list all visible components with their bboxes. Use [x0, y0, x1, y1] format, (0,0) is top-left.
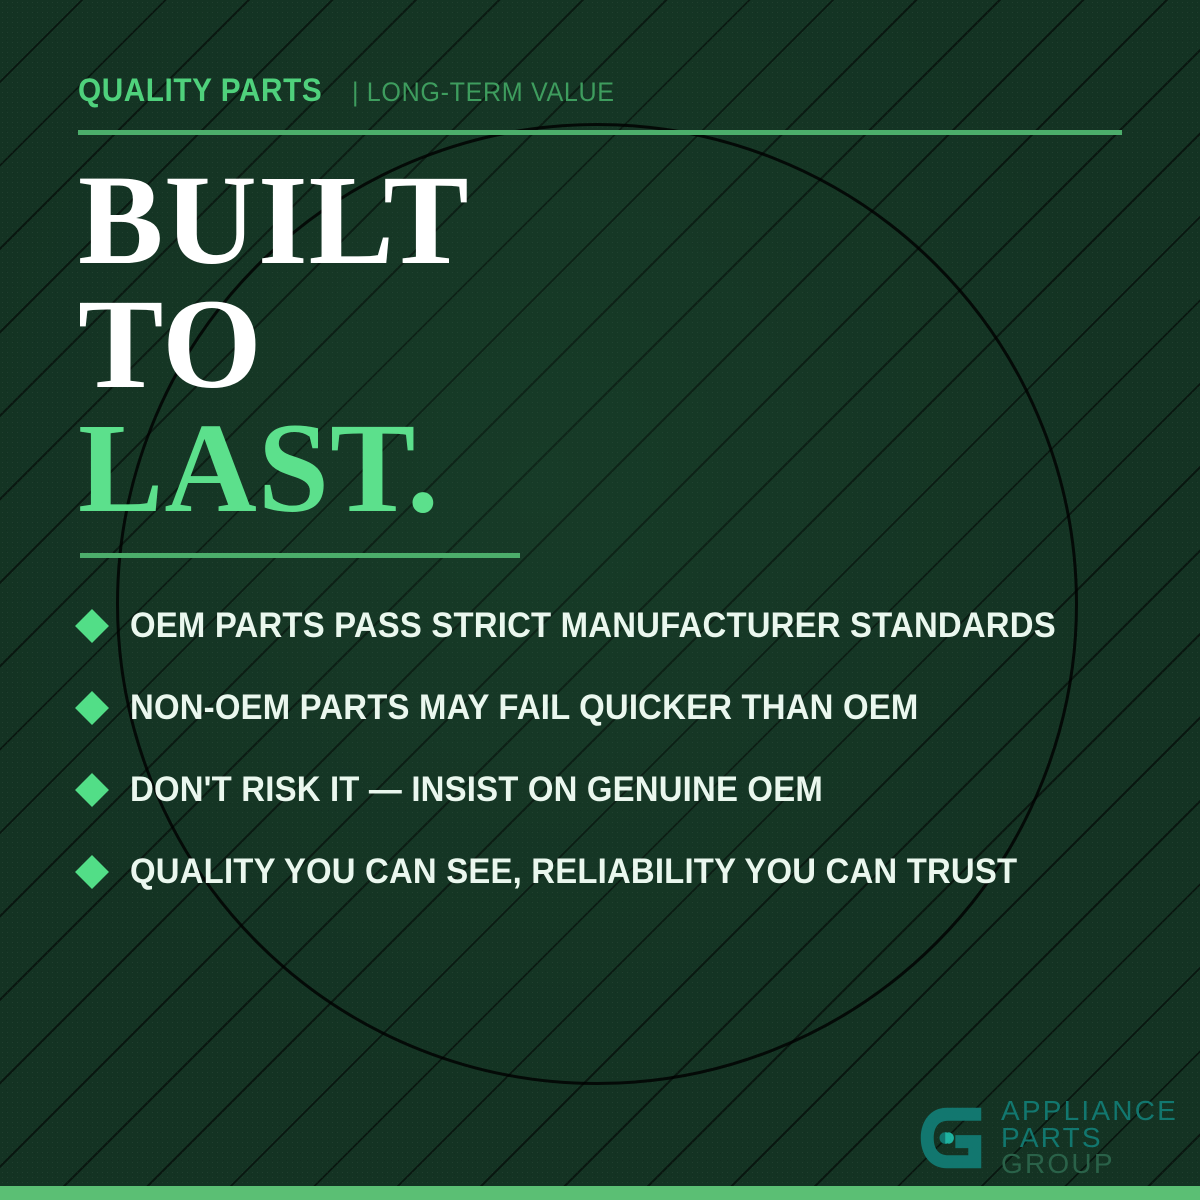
brand-word-line-3: GROUP [1001, 1151, 1178, 1178]
list-item: NON-OEM PARTS MAY FAIL QUICKER THAN OEM [80, 667, 1140, 749]
brand-wordmark: APPLIANCE PARTS GROUP [1001, 1098, 1178, 1178]
diamond-bullet-icon [75, 609, 109, 643]
brand-word-line-1: APPLIANCE [1001, 1098, 1178, 1125]
list-item: DON'T RISK IT — INSIST ON GENUINE OEM [80, 749, 1140, 831]
benefits-list: OEM PARTS PASS STRICT MANUFACTURER STAND… [80, 585, 1140, 913]
kicker-subtitle: | LONG-TERM VALUE [352, 77, 615, 108]
g-monogram-icon [915, 1102, 987, 1174]
brand-logo: APPLIANCE PARTS GROUP [915, 1098, 1178, 1178]
kicker-title: QUALITY PARTS [78, 72, 322, 109]
list-item-label: QUALITY YOU CAN SEE, RELIABILITY YOU CAN… [130, 852, 1017, 892]
bottom-accent-bar [0, 1186, 1200, 1200]
poster-canvas: QUALITY PARTS | LONG-TERM VALUE BUILT TO… [0, 0, 1200, 1200]
headline-line-1: BUILT [78, 158, 470, 282]
header-divider-rule [78, 130, 1122, 135]
headline-divider-rule [80, 553, 520, 558]
diamond-bullet-icon [75, 773, 109, 807]
list-item: QUALITY YOU CAN SEE, RELIABILITY YOU CAN… [80, 831, 1140, 913]
diamond-bullet-icon [75, 855, 109, 889]
list-item-label: DON'T RISK IT — INSIST ON GENUINE OEM [130, 770, 823, 810]
headline-line-2: TO [78, 282, 470, 406]
header-kicker-row: QUALITY PARTS | LONG-TERM VALUE [78, 72, 1122, 109]
list-item-label: NON-OEM PARTS MAY FAIL QUICKER THAN OEM [130, 688, 918, 728]
page-title: BUILT TO LAST. [78, 158, 470, 530]
diamond-bullet-icon [75, 691, 109, 725]
brand-word-line-2: PARTS [1001, 1125, 1178, 1152]
headline-line-3: LAST. [78, 406, 470, 530]
list-item: OEM PARTS PASS STRICT MANUFACTURER STAND… [80, 585, 1140, 667]
list-item-label: OEM PARTS PASS STRICT MANUFACTURER STAND… [130, 606, 1056, 646]
